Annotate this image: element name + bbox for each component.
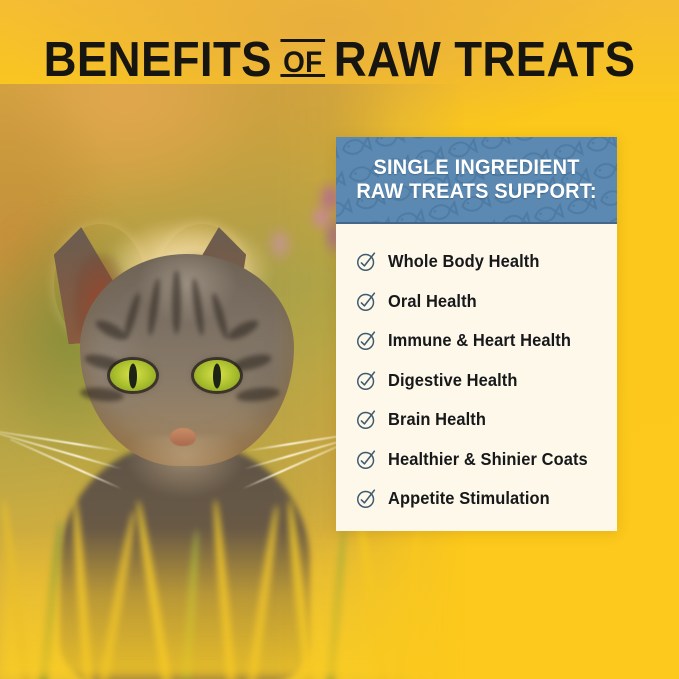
list-item: Whole Body Health bbox=[356, 242, 617, 282]
check-circle-icon bbox=[356, 330, 377, 351]
list-item-label: Healthier & Shinier Coats bbox=[388, 449, 588, 470]
check-circle-icon bbox=[356, 488, 377, 509]
check-circle-icon bbox=[356, 291, 377, 312]
card-header: SINGLE INGREDIENT RAW TREATS SUPPORT: bbox=[336, 137, 617, 224]
check-circle-icon bbox=[356, 449, 377, 470]
title-part-2: RAW TREATS bbox=[334, 36, 636, 85]
benefits-list: Whole Body Health Oral Health Immune & H… bbox=[336, 224, 617, 519]
list-item: Immune & Heart Health bbox=[356, 321, 617, 361]
check-circle-icon bbox=[356, 370, 377, 391]
cat-eye-right bbox=[194, 360, 240, 391]
list-item: Oral Health bbox=[356, 282, 617, 322]
list-item: Digestive Health bbox=[356, 361, 617, 401]
list-item-label: Whole Body Health bbox=[388, 251, 539, 272]
check-circle-icon bbox=[356, 409, 377, 430]
list-item-label: Brain Health bbox=[388, 409, 486, 430]
check-circle-icon bbox=[356, 251, 377, 272]
list-item-label: Digestive Health bbox=[388, 370, 517, 391]
list-item: Brain Health bbox=[356, 400, 617, 440]
card-header-line-2: RAW TREATS SUPPORT: bbox=[356, 180, 596, 204]
list-item-label: Oral Health bbox=[388, 291, 477, 312]
list-item: Healthier & Shinier Coats bbox=[356, 440, 617, 480]
list-item-label: Appetite Stimulation bbox=[388, 488, 550, 509]
card-header-line-1: SINGLE INGREDIENT bbox=[356, 156, 596, 180]
cat-nose bbox=[170, 428, 196, 446]
benefits-card: SINGLE INGREDIENT RAW TREATS SUPPORT: Wh… bbox=[336, 137, 617, 531]
cat-stripe bbox=[172, 270, 181, 334]
title-part-1: BENEFITS bbox=[44, 36, 272, 85]
list-item-label: Immune & Heart Health bbox=[388, 330, 571, 351]
cat-eye-left bbox=[110, 360, 156, 391]
title-connector: OF bbox=[280, 46, 325, 79]
benefits-poster: BENEFITSOFRAW TREATS SINGLE INGREDI bbox=[0, 0, 679, 679]
page-title: BENEFITSOFRAW TREATS bbox=[24, 36, 655, 85]
list-item: Appetite Stimulation bbox=[356, 479, 617, 519]
